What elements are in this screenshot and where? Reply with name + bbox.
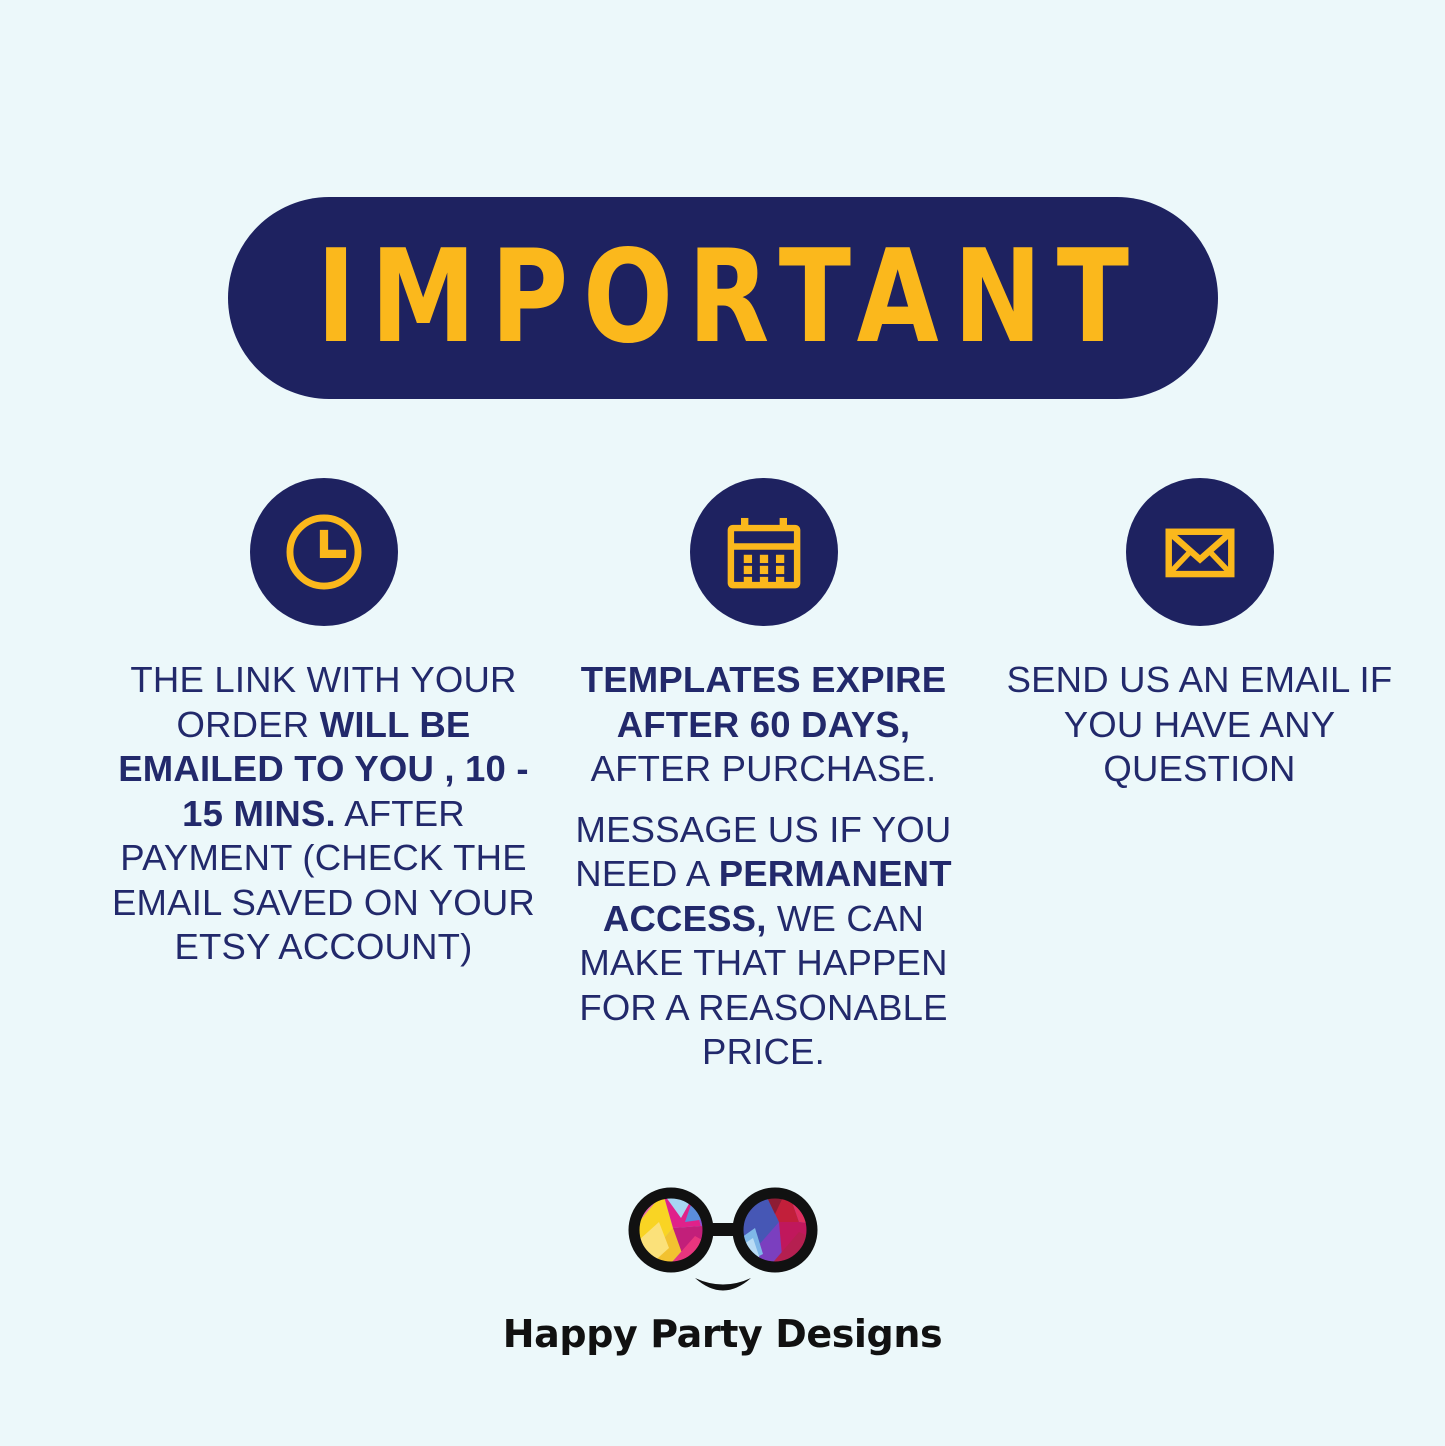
glasses-smile-logo xyxy=(603,1178,843,1298)
info-text-delivery: THE LINK WITH YOUR ORDER WILL BE EMAILED… xyxy=(108,658,540,970)
info-columns: THE LINK WITH YOUR ORDER WILL BE EMAILED… xyxy=(0,478,1445,1075)
calendar-icon xyxy=(718,506,810,598)
text-segment: AFTER PURCHASE. xyxy=(591,748,937,789)
info-column-contact: SEND US AN EMAIL IF YOU HAVE ANY QUESTIO… xyxy=(990,478,1410,792)
important-banner: IMPORTANT xyxy=(228,197,1218,399)
page-title: IMPORTANT xyxy=(302,234,1144,362)
clock-icon xyxy=(278,506,370,598)
info-text-expiry: TEMPLATES EXPIRE AFTER 60 DAYS, AFTER PU… xyxy=(566,658,962,1075)
info-column-expiry: TEMPLATES EXPIRE AFTER 60 DAYS, AFTER PU… xyxy=(566,478,962,1075)
info-column-delivery: THE LINK WITH YOUR ORDER WILL BE EMAILED… xyxy=(108,478,540,970)
brand-name: Happy Party Designs xyxy=(503,1312,942,1356)
info-text-contact: SEND US AN EMAIL IF YOU HAVE ANY QUESTIO… xyxy=(990,658,1410,792)
text-segment: SEND US AN EMAIL IF YOU HAVE ANY QUESTIO… xyxy=(1007,659,1393,789)
text-segment-bold: TEMPLATES EXPIRE AFTER 60 DAYS, xyxy=(581,659,947,745)
brand-logo-block: Happy Party Designs xyxy=(0,1178,1445,1356)
calendar-icon-badge xyxy=(690,478,838,626)
clock-icon-badge xyxy=(250,478,398,626)
poster-canvas: IMPORTANT THE LINK WITH YOUR ORDER WILL … xyxy=(0,0,1445,1446)
envelope-icon-badge xyxy=(1126,478,1274,626)
envelope-icon xyxy=(1154,506,1246,598)
